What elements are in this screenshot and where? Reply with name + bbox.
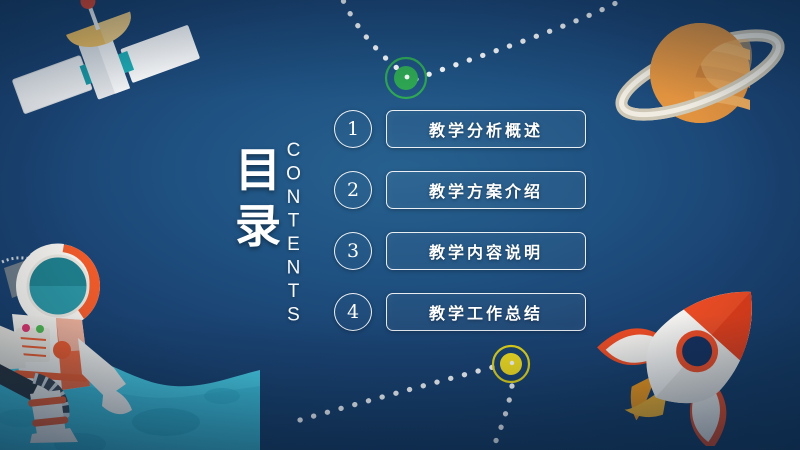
contents-menu: 1 教学分析概述 2 教学方案介绍 3 教学内容说明 4 教学工作总结	[334, 108, 586, 352]
item-label-2[interactable]: 教学方案介绍	[386, 171, 586, 209]
contents-item-1[interactable]: 1 教学分析概述	[334, 108, 586, 150]
contents-item-2[interactable]: 2 教学方案介绍	[334, 169, 586, 211]
item-number-badge-4: 4	[334, 293, 372, 331]
astronaut-icon	[0, 228, 176, 443]
presentation-slide: 目录 CONTENTS 1 教学分析概述 2 教学方案介绍 3 教学内容说明 4…	[0, 0, 800, 450]
green-node-icon	[386, 58, 426, 98]
dotted-path-bottom-left	[300, 366, 497, 420]
item-label-1[interactable]: 教学分析概述	[386, 110, 586, 148]
saturn-planet-icon	[606, 6, 794, 144]
contents-item-4[interactable]: 4 教学工作总结	[334, 291, 586, 333]
item-number-badge-2: 2	[334, 171, 372, 209]
contents-block: 目录 CONTENTS 1 教学分析概述 2 教学方案介绍 3 教学内容说明 4…	[226, 108, 586, 348]
item-label-4[interactable]: 教学工作总结	[386, 293, 586, 331]
item-label-3[interactable]: 教学内容说明	[386, 232, 586, 270]
contents-title: 目录 CONTENTS	[226, 136, 326, 316]
dotted-path-bottom-down	[489, 386, 512, 450]
item-number-badge-3: 3	[334, 232, 372, 270]
rocket-icon	[596, 268, 796, 446]
satellite-icon	[0, 0, 211, 144]
item-number-badge-1: 1	[334, 110, 372, 148]
page-title-cn: 目录	[228, 142, 290, 254]
dotted-path-top-left	[338, 0, 402, 72]
contents-item-3[interactable]: 3 教学内容说明	[334, 230, 586, 272]
page-title-en: CONTENTS	[282, 140, 304, 328]
